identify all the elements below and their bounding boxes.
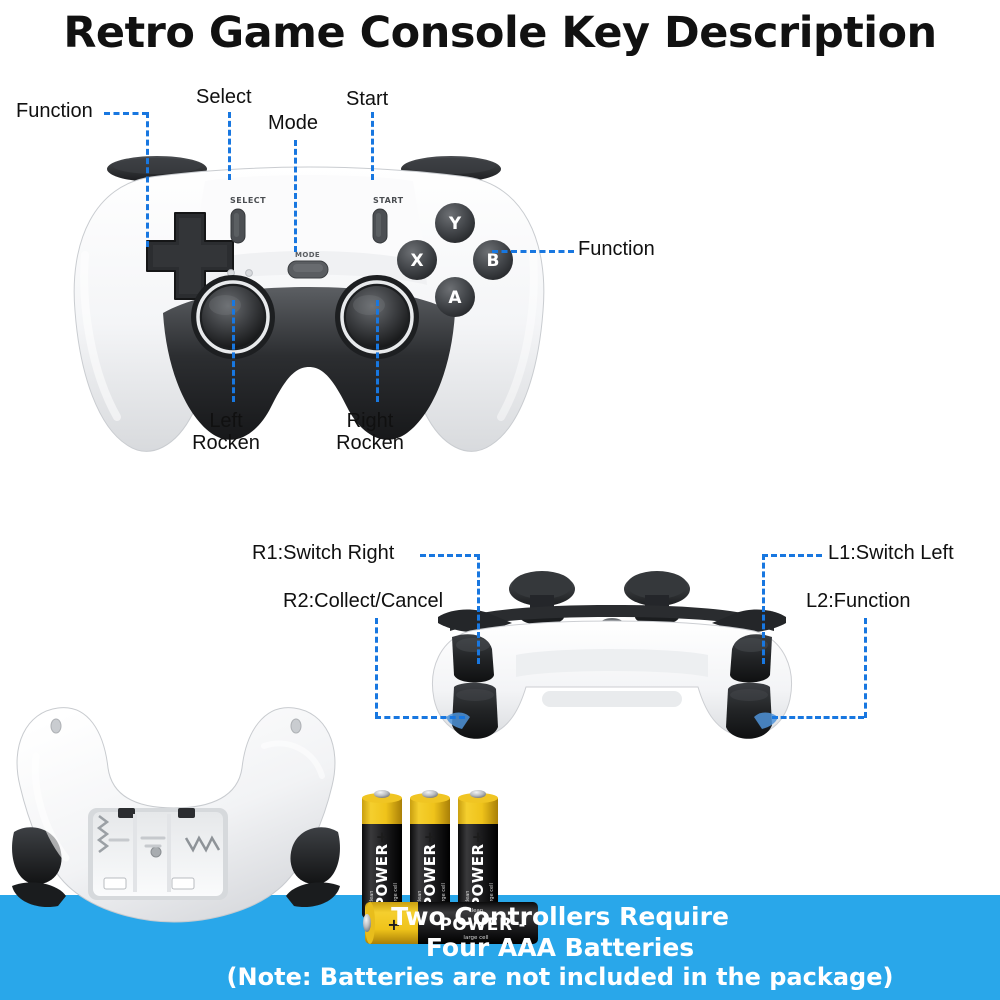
callout-l1: L1:Switch Left: [828, 542, 954, 564]
svg-text:Y: Y: [448, 214, 462, 234]
leader-l1-v: [762, 554, 765, 664]
callout-r1-label: R1:Switch Right: [252, 542, 394, 564]
svg-text:MODE: MODE: [295, 251, 320, 259]
banner-line-3: (Note: Batteries are not included in the…: [227, 963, 894, 992]
bottom-banner-text: Two Controllers Require Four AAA Batteri…: [0, 895, 1000, 1000]
callout-left-rocken: Left Rocken: [168, 410, 284, 455]
svg-text:+: +: [424, 828, 437, 846]
callout-function-dpad: Function: [16, 100, 93, 122]
leader-left-rocken: [232, 300, 235, 402]
callout-r2: R2:Collect/Cancel: [283, 590, 443, 612]
callout-r2-label: R2:Collect/Cancel: [283, 590, 443, 612]
callout-function-b: Function: [578, 238, 655, 260]
infographic-stage: Retro Game Console Key Description: [0, 0, 1000, 1000]
controller-front-illustration: SELECT START MODE Y X B A: [55, 145, 565, 475]
r2-trigger: [452, 683, 498, 739]
leader-select: [228, 112, 231, 180]
leader-r1-h: [420, 554, 480, 557]
leader-r1-v: [477, 554, 480, 664]
callout-left-rocken-line1: Left: [168, 410, 284, 432]
callout-mode: Mode: [268, 112, 318, 134]
banner-line-2: Four AAA Batteries: [426, 933, 694, 964]
controller-top-illustration: [392, 565, 832, 750]
callout-l2-label: L2:Function: [806, 590, 911, 612]
leader-function-b: [492, 250, 574, 253]
callout-start-label: Start: [346, 88, 388, 110]
callout-select: Select: [196, 86, 252, 108]
svg-text:B: B: [487, 251, 500, 271]
svg-text:X: X: [410, 251, 423, 271]
leader-right-rocken: [376, 300, 379, 402]
callout-right-rocken-line1: Right: [312, 410, 428, 432]
leader-r2-v: [375, 618, 378, 718]
leader-l2-v: [864, 618, 867, 718]
callout-function-dpad-label: Function: [16, 100, 93, 122]
led-indicator-2: [246, 270, 253, 277]
battery-compartment: [88, 808, 228, 900]
callout-left-rocken-line2: Rocken: [168, 432, 284, 454]
leader-l2-h: [772, 716, 864, 719]
leader-function-dpad-v: [146, 112, 149, 247]
callout-l2: L2:Function: [806, 590, 911, 612]
leader-start: [371, 112, 374, 180]
banner-line-1: Two Controllers Require: [391, 902, 729, 933]
callout-right-rocken-line2: Rocken: [312, 432, 428, 454]
svg-text:START: START: [373, 196, 404, 205]
svg-text:+: +: [376, 828, 389, 846]
leader-l1-h: [762, 554, 822, 557]
page-title: Retro Game Console Key Description: [0, 8, 1000, 58]
svg-text:A: A: [448, 288, 462, 308]
leader-r2-h: [375, 716, 465, 719]
callout-l1-label: L1:Switch Left: [828, 542, 954, 564]
leader-function-dpad-h: [104, 112, 148, 115]
leader-mode: [294, 140, 297, 252]
callout-function-b-label: Function: [578, 238, 655, 260]
l1-shoulder: [730, 634, 772, 682]
svg-text:SELECT: SELECT: [230, 196, 266, 205]
callout-r1: R1:Switch Right: [252, 542, 394, 564]
r1-shoulder: [452, 634, 494, 682]
callout-select-label: Select: [196, 86, 252, 108]
l2-trigger: [726, 683, 772, 739]
callout-right-rocken: Right Rocken: [312, 410, 428, 455]
callout-mode-label: Mode: [268, 112, 318, 134]
callout-start: Start: [346, 88, 388, 110]
svg-text:+: +: [472, 828, 485, 846]
